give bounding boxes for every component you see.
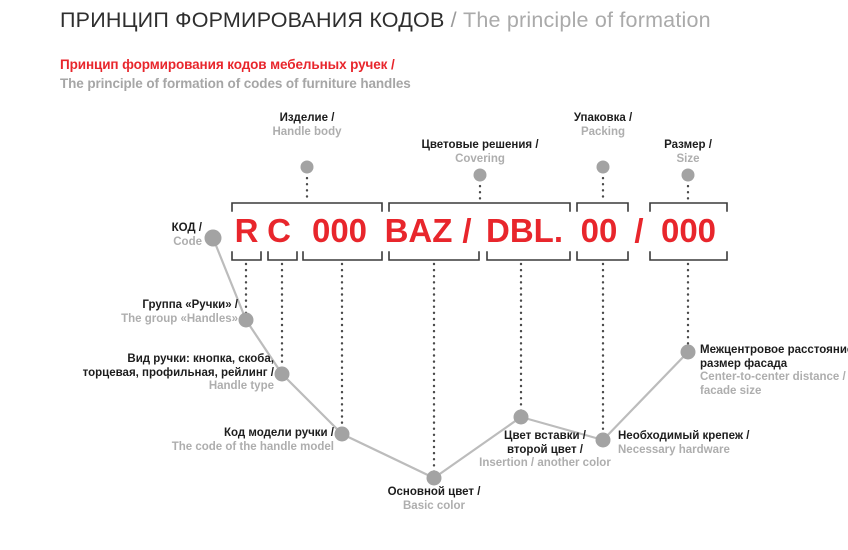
code-segment-insertion-color: DBL. bbox=[479, 211, 570, 251]
callout-necessary-hardware: Необходимый крепеж / Necessary hardware bbox=[618, 430, 838, 457]
top-dot-size bbox=[682, 169, 695, 182]
callout-size: Размер / Size bbox=[618, 139, 758, 166]
callout-code: КОД / Code bbox=[60, 222, 202, 249]
bottom-bracket-insertion-color bbox=[487, 252, 570, 260]
code-segment-model-code: 000 bbox=[297, 211, 382, 251]
callout-packing-ru: Упаковка / bbox=[523, 112, 683, 126]
code-segment-basic-color: BAZ bbox=[382, 211, 455, 251]
bottom-bracket-hardware bbox=[577, 252, 628, 260]
code-segment-hardware: 00 bbox=[570, 211, 628, 251]
callout-size-ru: Размер / bbox=[618, 139, 758, 153]
callout-necessary-hardware-en-1: Necessary hardware bbox=[618, 444, 838, 458]
code-segment-slash-2: / bbox=[628, 211, 650, 251]
callout-handle-body-ru: Изделие / bbox=[217, 112, 397, 126]
callout-insertion-color-ru-2: второй цвет / bbox=[455, 444, 635, 458]
callout-handle-model-code: Код модели ручки / The code of the handl… bbox=[110, 427, 334, 454]
product-code-string: RC000BAZ/DBL.00/000 bbox=[232, 211, 728, 251]
code-structure-diagram bbox=[0, 0, 848, 550]
callout-handle-model-code-en-1: The code of the handle model bbox=[110, 441, 334, 455]
callout-center-distance: Межцентровое расстояние / размер фасада … bbox=[700, 344, 848, 398]
callout-code-en: Code bbox=[60, 236, 202, 250]
callout-handle-type-ru-2: торцевая, профильная, рейлинг / bbox=[10, 367, 274, 381]
bottom-bracket-handle-type bbox=[268, 252, 297, 260]
top-brackets bbox=[232, 203, 727, 211]
callout-insertion-color-ru-1: Цвет вставки / bbox=[455, 430, 635, 444]
callout-center-distance-en-2: facade size bbox=[700, 385, 848, 399]
callout-insertion-color: Цвет вставки / второй цвет / Insertion /… bbox=[455, 430, 635, 471]
code-segment-group: R bbox=[232, 211, 261, 251]
callout-center-distance-ru-1: Межцентровое расстояние / bbox=[700, 344, 848, 358]
node-dot-model-code bbox=[335, 427, 350, 442]
callout-handle-body: Изделие / Handle body bbox=[217, 112, 397, 139]
node-dot-insertion-color bbox=[514, 410, 529, 425]
code-segment-size: 000 bbox=[650, 211, 727, 251]
bottom-bracket-size bbox=[650, 252, 727, 260]
callout-packing-en: Packing bbox=[523, 126, 683, 140]
top-bracket-covering bbox=[389, 203, 570, 211]
code-segment-slash-1: / bbox=[455, 211, 479, 251]
callout-insertion-color-en-1: Insertion / another color bbox=[455, 457, 635, 471]
node-dot-center-distance bbox=[681, 345, 696, 360]
top-dot-covering bbox=[474, 169, 487, 182]
bottom-brackets bbox=[232, 252, 727, 260]
callout-size-en: Size bbox=[618, 153, 758, 167]
node-dot-code bbox=[205, 230, 222, 247]
callout-handle-type-ru-1: Вид ручки: кнопка, скоба, bbox=[10, 353, 274, 367]
callout-handle-type: Вид ручки: кнопка, скоба, торцевая, проф… bbox=[10, 353, 274, 394]
node-dot-group bbox=[239, 313, 254, 328]
callout-covering-ru: Цветовые решения / bbox=[380, 139, 580, 153]
callout-basic-color-en-1: Basic color bbox=[344, 500, 524, 514]
callout-group-handles-en-1: The group «Handles» bbox=[20, 313, 238, 327]
top-dot-handle-body bbox=[301, 161, 314, 174]
callout-group-handles-ru-1: Группа «Ручки» / bbox=[20, 299, 238, 313]
callout-code-ru: КОД / bbox=[60, 222, 202, 236]
callout-handle-model-code-ru-1: Код модели ручки / bbox=[110, 427, 334, 441]
callout-handle-body-en: Handle body bbox=[217, 126, 397, 140]
bottom-bracket-basic-color bbox=[389, 252, 479, 260]
top-bracket-size bbox=[650, 203, 727, 211]
top-dotted-leaders bbox=[307, 172, 688, 200]
callout-covering: Цветовые решения / Covering bbox=[380, 139, 580, 166]
top-dot-packing bbox=[597, 161, 610, 174]
callout-basic-color: Основной цвет / Basic color bbox=[344, 486, 524, 513]
code-segment-handle-type: C bbox=[261, 211, 297, 251]
callout-basic-color-ru-1: Основной цвет / bbox=[344, 486, 524, 500]
bottom-bracket-model-code bbox=[303, 252, 382, 260]
callout-center-distance-en-1: Center-to-center distance / bbox=[700, 371, 848, 385]
node-dot-basic-color bbox=[427, 471, 442, 486]
callout-packing: Упаковка / Packing bbox=[523, 112, 683, 139]
callout-center-distance-ru-2: размер фасада bbox=[700, 358, 848, 372]
callout-necessary-hardware-ru-1: Необходимый крепеж / bbox=[618, 430, 838, 444]
top-bracket-handle-body bbox=[232, 203, 382, 211]
callout-covering-en: Covering bbox=[380, 153, 580, 167]
callout-handle-type-en-1: Handle type bbox=[10, 380, 274, 394]
node-dot-handle-type bbox=[275, 367, 290, 382]
top-bracket-packing bbox=[577, 203, 628, 211]
callout-group-handles: Группа «Ручки» / The group «Handles» bbox=[20, 299, 238, 326]
bottom-bracket-group bbox=[232, 252, 261, 260]
